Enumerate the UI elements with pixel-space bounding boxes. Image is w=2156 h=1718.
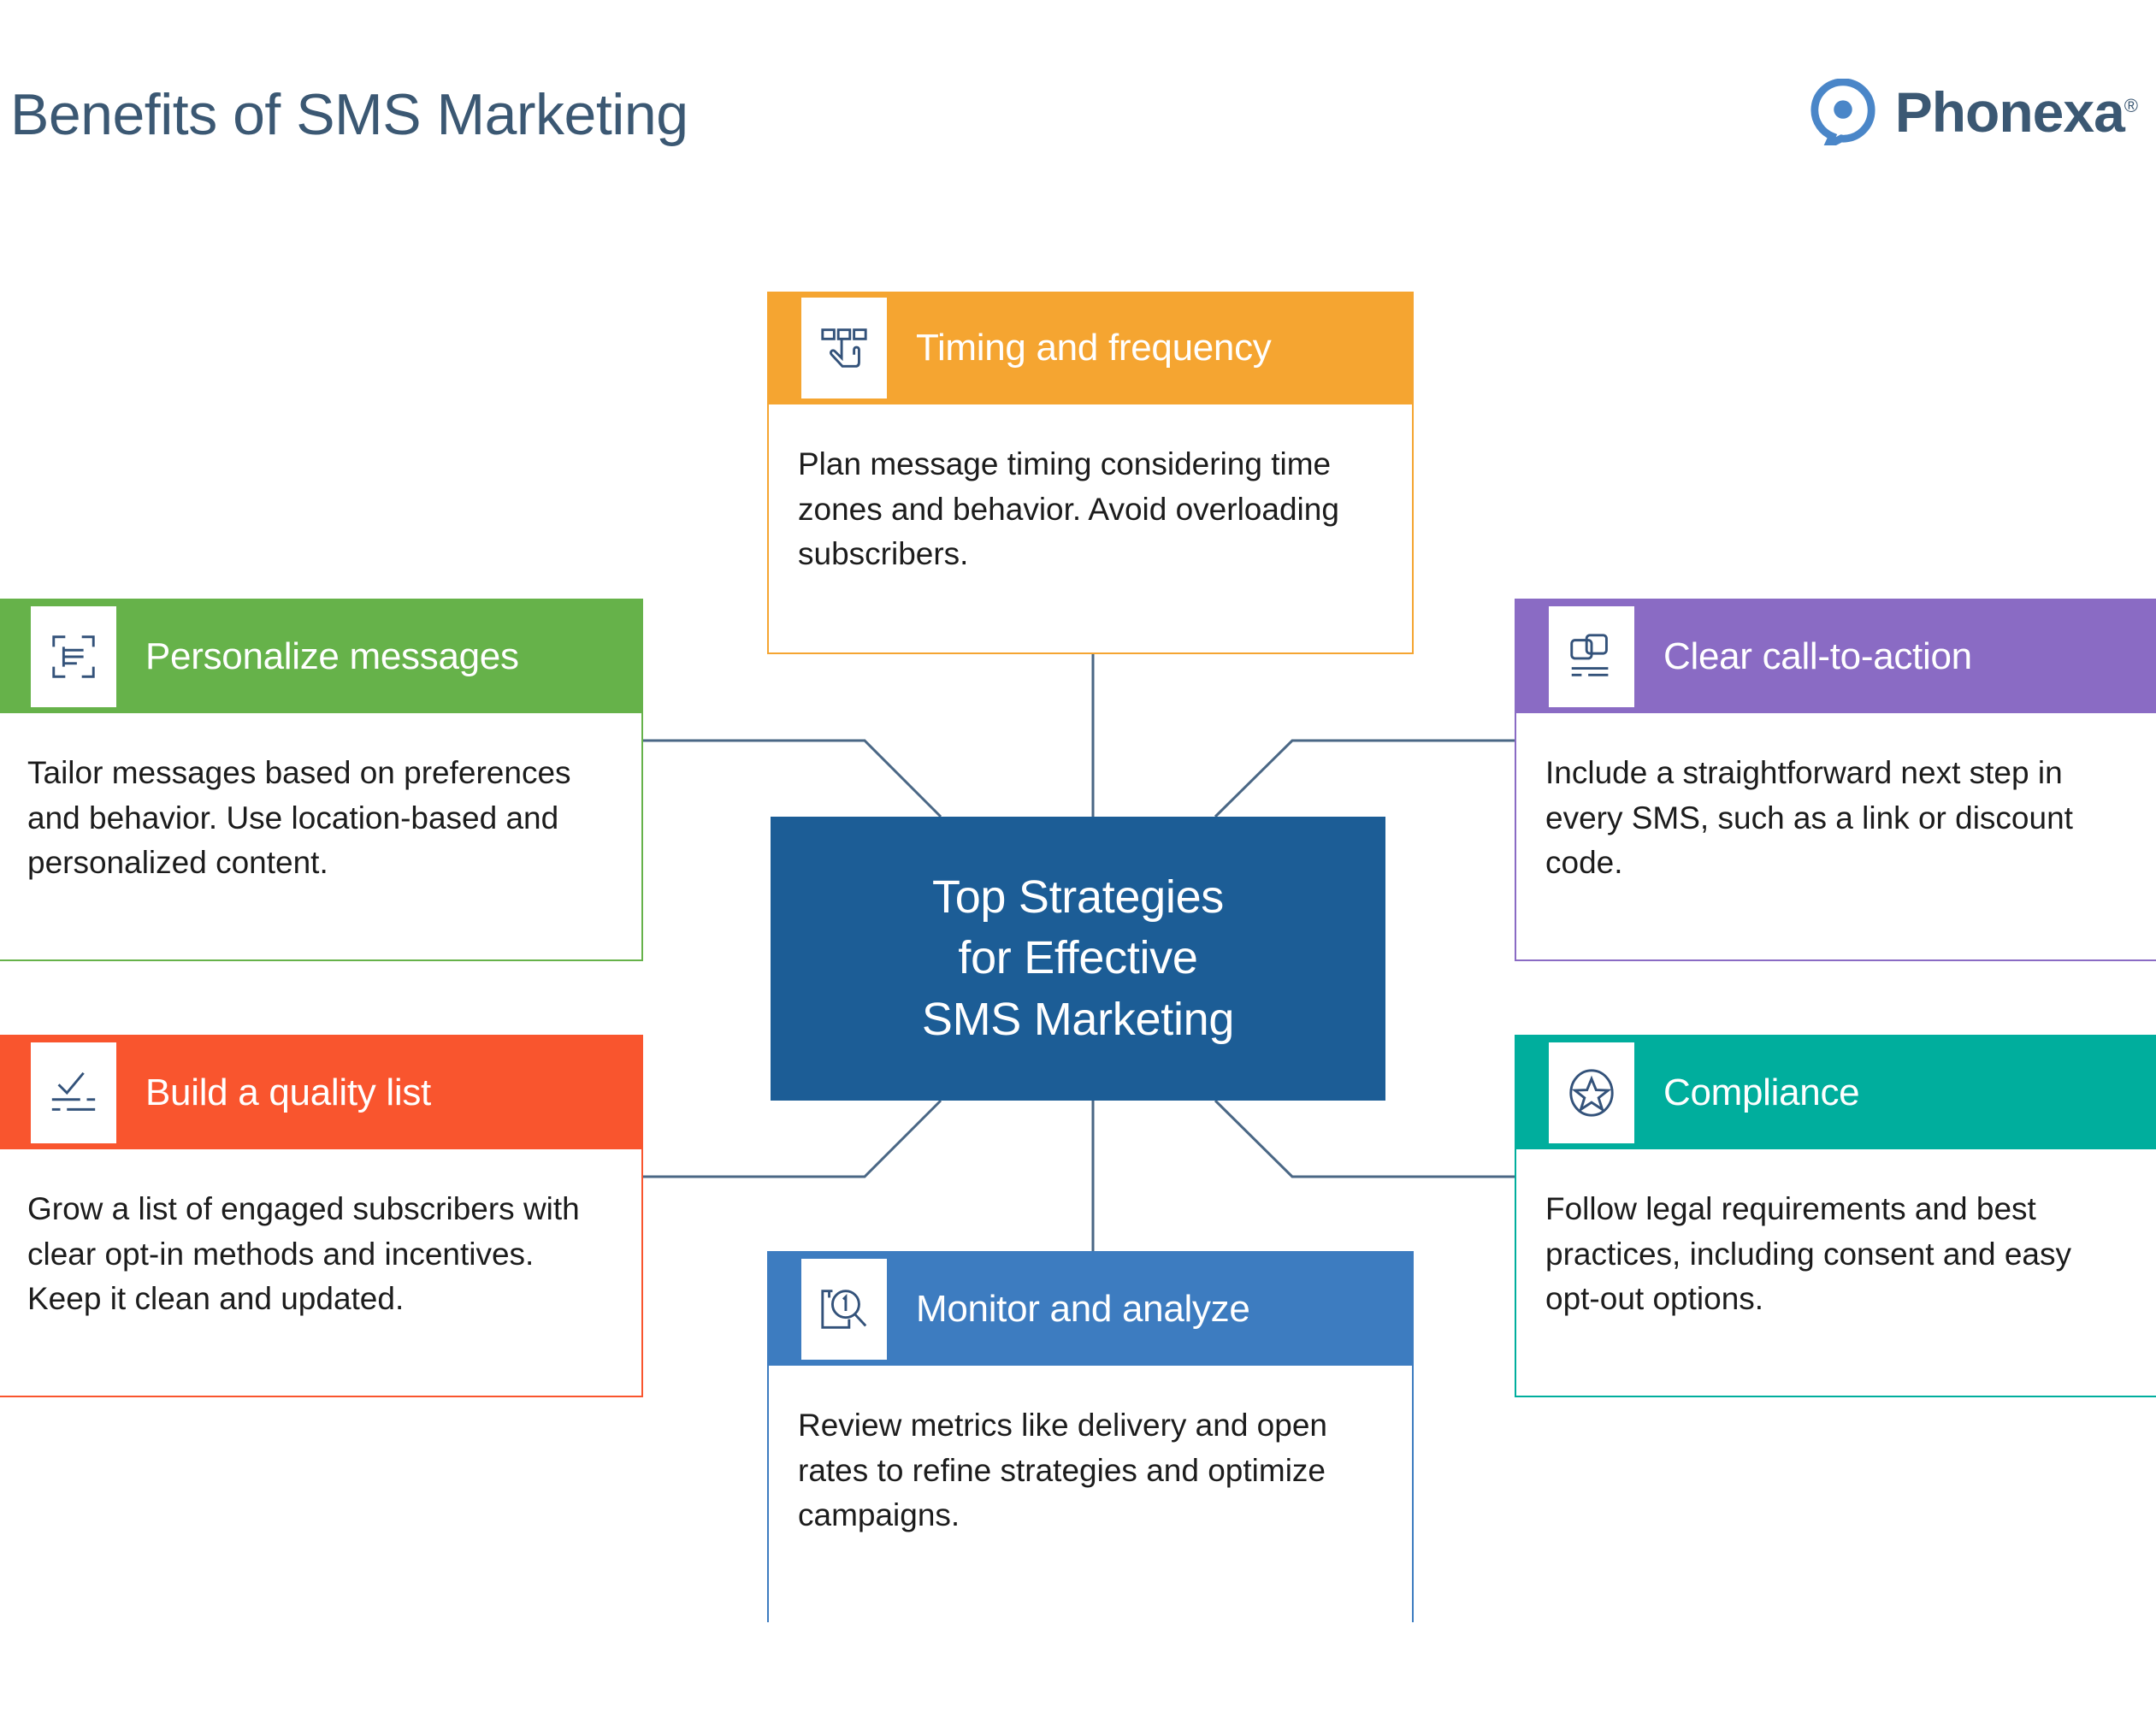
scan-document-icon <box>31 606 116 707</box>
card-body: Follow legal requirements and best pract… <box>1516 1149 2156 1348</box>
card-header: Clear call-to-action <box>1515 600 2156 713</box>
card-body: Review metrics like delivery and open ra… <box>769 1366 1412 1564</box>
card-title: Monitor and analyze <box>916 1288 1250 1331</box>
card-header: Compliance <box>1515 1036 2156 1149</box>
center-concept-box: Top Strategies for Effective SMS Marketi… <box>771 817 1385 1101</box>
card-personalize-messages[interactable]: Personalize messages Tailor messages bas… <box>0 599 643 961</box>
tap-hand-icon <box>801 298 887 399</box>
star-badge-icon <box>1549 1042 1634 1143</box>
card-header: Personalize messages <box>0 600 643 713</box>
card-header: Build a quality list <box>0 1036 643 1149</box>
card-body: Plan message timing considering time zon… <box>769 404 1412 603</box>
card-title: Compliance <box>1663 1072 1859 1114</box>
center-concept-text: Top Strategies for Effective SMS Marketi… <box>922 867 1234 1050</box>
card-compliance[interactable]: Compliance Follow legal requirements and… <box>1515 1035 2156 1397</box>
card-clear-call-to-action[interactable]: Clear call-to-action Include a straightf… <box>1515 599 2156 961</box>
infographic-canvas: Benefits of SMS Marketing Phonexa® <box>0 0 2156 1718</box>
card-title: Personalize messages <box>145 635 519 678</box>
card-title: Build a quality list <box>145 1072 431 1114</box>
card-timing-and-frequency[interactable]: Timing and frequency Plan message timing… <box>767 292 1414 654</box>
checklist-icon <box>31 1042 116 1143</box>
card-body: Tailor messages based on preferences and… <box>0 713 641 912</box>
card-title: Clear call-to-action <box>1663 635 1972 678</box>
card-monitor-and-analyze[interactable]: Monitor and analyze Review metrics like … <box>767 1251 1414 1622</box>
card-build-a-quality-list[interactable]: Build a quality list Grow a list of enga… <box>0 1035 643 1397</box>
card-header: Timing and frequency <box>767 292 1414 404</box>
card-title: Timing and frequency <box>916 327 1271 369</box>
card-body: Grow a list of engaged subscribers with … <box>0 1149 641 1348</box>
link-card-icon <box>1549 606 1634 707</box>
document-search-icon <box>801 1259 887 1360</box>
card-header: Monitor and analyze <box>767 1253 1414 1366</box>
card-body: Include a straightforward next step in e… <box>1516 713 2156 912</box>
